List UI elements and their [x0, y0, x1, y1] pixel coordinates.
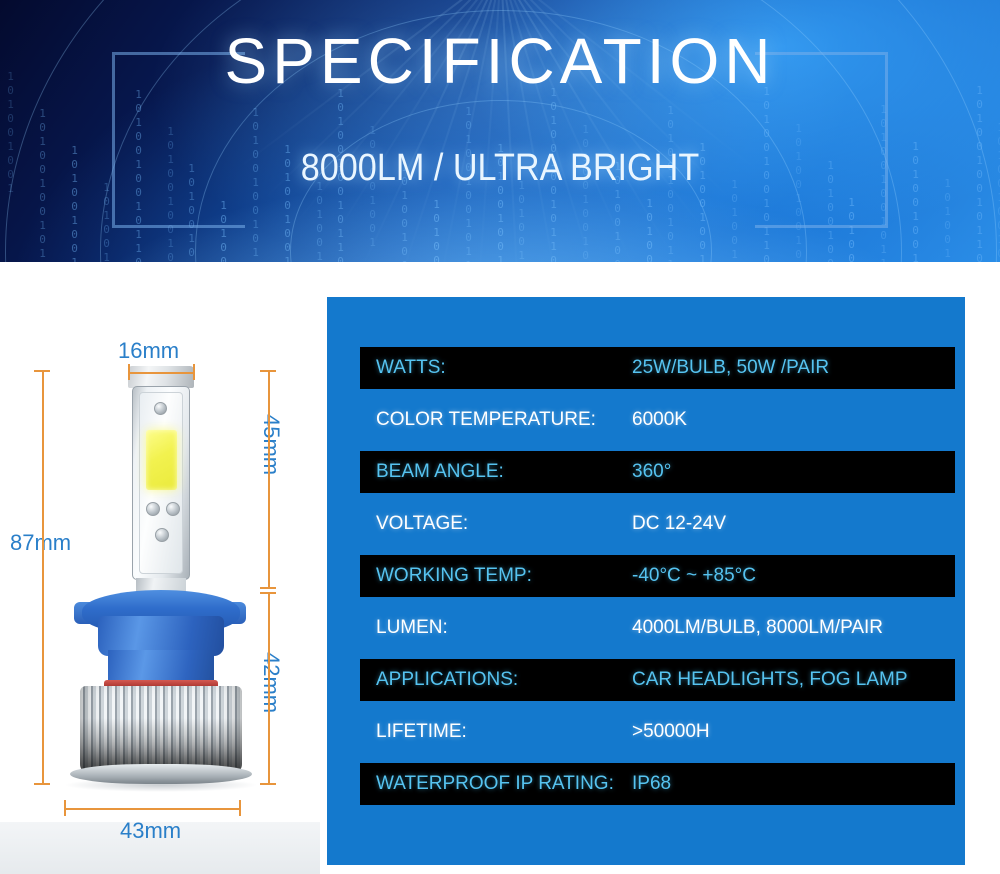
spec-value: -40°C ~ +85°C — [632, 565, 756, 587]
spec-key: LIFETIME: — [376, 721, 467, 743]
screw-right-icon — [166, 502, 180, 516]
spec-key: BEAM ANGLE: — [376, 461, 504, 483]
spec-key: APPLICATIONS: — [376, 669, 518, 691]
spec-key: COLOR TEMPERATURE: — [376, 409, 596, 431]
spec-row: COLOR TEMPERATURE:6000K — [360, 399, 955, 441]
spec-row: VOLTAGE:DC 12-24V — [360, 503, 955, 545]
spec-value: 360° — [632, 461, 671, 483]
dimension-label-upper-height: 45mm — [258, 414, 284, 475]
dimension-label-base-diameter: 43mm — [120, 818, 181, 844]
spec-key: VOLTAGE: — [376, 513, 468, 535]
spec-row: BEAM ANGLE:360° — [360, 451, 955, 493]
dimline-base-diameter — [64, 808, 240, 810]
product-shadow — [64, 778, 258, 792]
spec-row: WATTS:25W/BULB, 50W /PAIR — [360, 347, 955, 389]
page-title: SPECIFICATION — [0, 24, 1000, 98]
dimension-label-total-height: 87mm — [10, 530, 71, 556]
product-image-with-dimensions: 16mm 87mm 45mm 42mm 43mm — [0, 262, 320, 873]
dimtick-base-left — [64, 800, 66, 816]
blue-base-stem — [108, 650, 214, 684]
dimtick-bulb-width-right — [193, 364, 195, 380]
dimtick-lower-bottom — [260, 783, 276, 785]
specification-table: WATTS:25W/BULB, 50W /PAIRCOLOR TEMPERATU… — [360, 347, 955, 815]
spec-row: APPLICATIONS:CAR HEADLIGHTS, FOG LAMP — [360, 659, 955, 701]
dimtick-upper-top — [260, 370, 276, 372]
dimtick-bulb-width-left — [128, 364, 130, 380]
dimension-label-bulb-width: 16mm — [118, 338, 179, 364]
screw-top-icon — [154, 402, 167, 415]
spec-value: CAR HEADLIGHTS, FOG LAMP — [632, 669, 908, 691]
cob-led-chip — [146, 430, 177, 490]
dimline-lower-height — [268, 592, 270, 784]
dimtick-total-top — [34, 370, 50, 372]
spec-key: LUMEN: — [376, 617, 448, 639]
spec-value: 6000K — [632, 409, 687, 431]
spec-value: DC 12-24V — [632, 513, 726, 535]
dimension-label-lower-height: 42mm — [258, 652, 284, 713]
dimline-total-height — [42, 370, 44, 784]
spec-row: WORKING TEMP:-40°C ~ +85°C — [360, 555, 955, 597]
header-banner: 1010010011010010010110100101001001011010… — [0, 0, 1000, 262]
dimtick-base-right — [239, 800, 241, 816]
dimline-bulb-width — [128, 372, 194, 374]
dimtick-upper-bottom — [260, 587, 276, 589]
dimtick-lower-top — [260, 592, 276, 594]
bulb-top-cap — [128, 366, 194, 388]
specification-panel: WATTS:25W/BULB, 50W /PAIRCOLOR TEMPERATU… — [327, 297, 965, 865]
spec-key: WATERPROOF IP RATING: — [376, 773, 614, 795]
spec-key: WATTS: — [376, 357, 446, 379]
spec-value: 4000LM/BULB, 8000LM/PAIR — [632, 617, 883, 639]
spec-row: LIFETIME:>50000H — [360, 711, 955, 753]
dimline-upper-height — [268, 370, 270, 588]
spec-row: WATERPROOF IP RATING:IP68 — [360, 763, 955, 805]
screw-left-icon — [146, 502, 160, 516]
spec-value: IP68 — [632, 773, 671, 795]
led-bulb-illustration — [60, 366, 260, 796]
spec-value: >50000H — [632, 721, 710, 743]
spec-key: WORKING TEMP: — [376, 565, 532, 587]
spec-row: LUMEN:4000LM/BULB, 8000LM/PAIR — [360, 607, 955, 649]
page-subtitle: 8000LM / ULTRA BRIGHT — [50, 147, 950, 190]
spec-value: 25W/BULB, 50W /PAIR — [632, 357, 829, 379]
screw-bottom-icon — [155, 528, 169, 542]
dimtick-total-bottom — [34, 783, 50, 785]
